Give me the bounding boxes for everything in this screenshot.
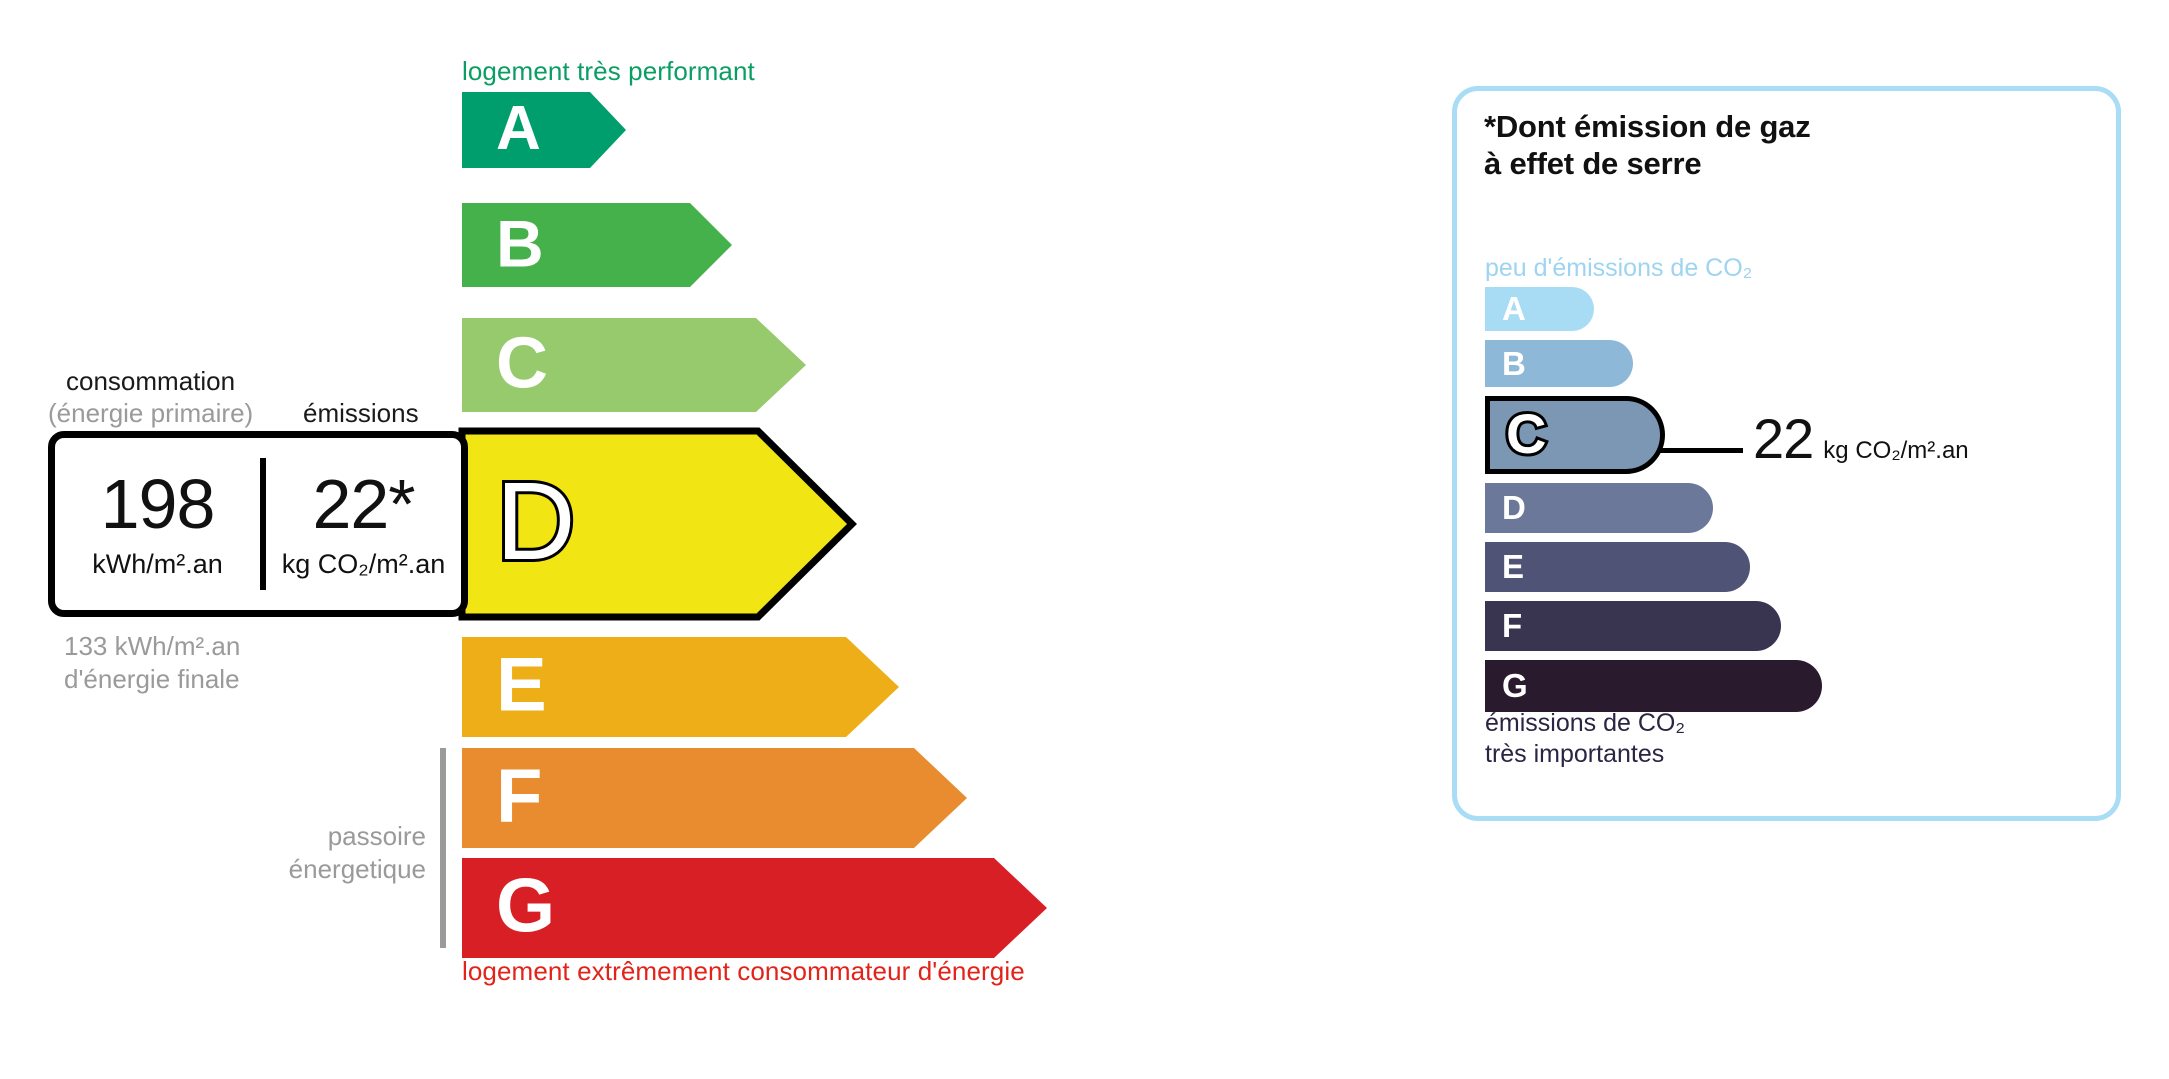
energy-band-letter-f: F — [496, 758, 542, 834]
energy-band-letter-c: C — [496, 328, 548, 400]
final-energy-note: 133 kWh/m².an d'énergie finale — [64, 630, 240, 697]
passoire-energetique-label: passoire énergetique — [278, 820, 426, 887]
co2-readout-value: 22 — [1753, 411, 1813, 467]
emissions-label: émissions — [303, 398, 419, 429]
primary-energy-value: 198 — [101, 469, 215, 539]
energy-scale-panel: logement très performant ABCDEFG consomm… — [0, 0, 1330, 1079]
co2-panel-title: *Dont émission de gaz à effet de serre — [1484, 109, 1811, 182]
energy-band-letter-e: E — [496, 647, 547, 723]
primary-energy-unit: kWh/m².an — [92, 549, 223, 580]
emissions-cell: 22* kg CO₂/m².an — [266, 438, 461, 610]
passoire-bracket-line — [440, 748, 446, 948]
co2-bar-letter-f: F — [1502, 609, 1522, 642]
co2-bar-letter-g: G — [1502, 669, 1528, 702]
co2-bar-letter-a: A — [1502, 292, 1526, 325]
energie-primaire-label: (énergie primaire) — [48, 398, 253, 429]
co2-bar-letter-d: D — [1502, 491, 1526, 524]
co2-bar-letter-b: B — [1502, 346, 1526, 379]
co2-high-caption: émissions de CO₂ très importantes — [1485, 708, 1685, 769]
emissions-unit: kg CO₂/m².an — [282, 549, 446, 580]
primary-energy-cell: 198 kWh/m².an — [55, 438, 260, 610]
co2-bar-f: F — [1485, 601, 1781, 651]
band-shape-a — [457, 87, 631, 173]
energy-band-e: E — [462, 637, 899, 737]
co2-bar-a: A — [1485, 287, 1594, 331]
energy-band-g: G — [462, 858, 1047, 958]
measurement-card: 198 kWh/m².an 22* kg CO₂/m².an — [48, 431, 468, 617]
energy-band-d: D — [462, 431, 852, 617]
energy-band-b: B — [462, 203, 732, 287]
co2-bar-c: C — [1485, 396, 1665, 474]
energy-scale-top-caption: logement très performant — [462, 56, 755, 87]
energy-scale-bottom-caption: logement extrêmement consommateur d'éner… — [462, 956, 1025, 987]
co2-bar-letter-c: C — [1506, 406, 1546, 462]
co2-bar-g: G — [1485, 660, 1822, 712]
emissions-value: 22* — [312, 469, 414, 539]
energy-band-a: A — [462, 92, 626, 168]
energy-band-letter-d: D — [496, 467, 575, 577]
co2-readout-unit: kg CO₂/m².an — [1823, 437, 1968, 465]
consommation-label: consommation — [66, 366, 235, 397]
energy-band-letter-g: G — [496, 868, 555, 944]
energy-band-c: C — [462, 318, 806, 412]
energy-band-f: F — [462, 748, 967, 848]
co2-bar-e: E — [1485, 542, 1750, 592]
energy-band-letter-a: A — [496, 98, 541, 160]
co2-bar-b: B — [1485, 340, 1633, 387]
co2-low-caption: peu d'émissions de CO₂ — [1485, 254, 1752, 283]
co2-readout: 22 kg CO₂/m².an — [1753, 411, 1969, 467]
energy-band-letter-b: B — [496, 211, 544, 277]
co2-bar-d: D — [1485, 483, 1713, 533]
co2-bar-letter-e: E — [1502, 550, 1524, 583]
co2-leader-line — [1659, 448, 1743, 453]
